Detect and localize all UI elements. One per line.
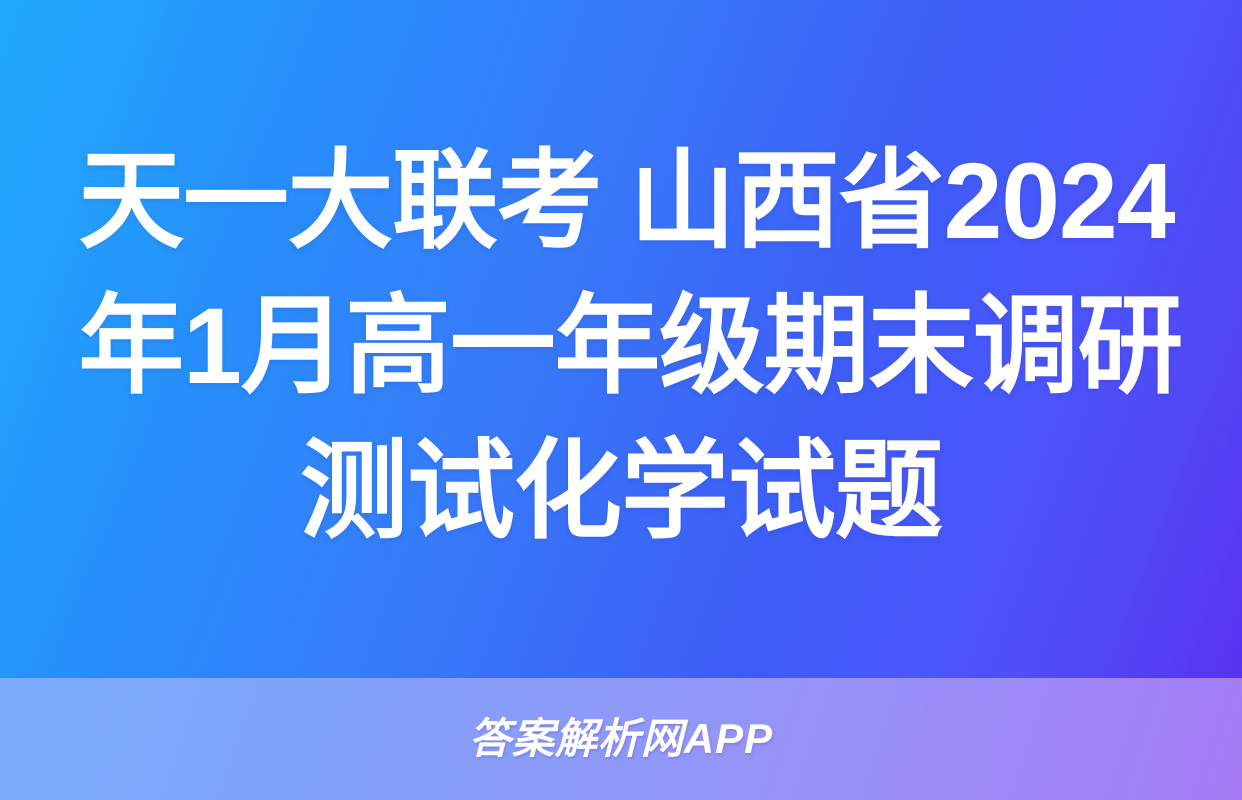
watermark-band: 答案解析网APP [0, 678, 1242, 800]
watermark-brand-label: 答案解析网APP [469, 716, 773, 762]
page-title: 天一大联考 山西省2024 年1月高一年级期末调研 测试化学试题 [66, 116, 1176, 563]
title-line-1: 天一大联考 山西省2024 [79, 128, 1164, 273]
title-line-3: 测试化学试题 [66, 418, 1176, 563]
hero-gradient-background: 天一大联考 山西省2024 年1月高一年级期末调研 测试化学试题 [0, 0, 1242, 678]
title-line-2: 年1月高一年级期末调研 [79, 273, 1164, 418]
exam-cover-poster: 天一大联考 山西省2024 年1月高一年级期末调研 测试化学试题 答案解析网AP… [0, 0, 1242, 800]
